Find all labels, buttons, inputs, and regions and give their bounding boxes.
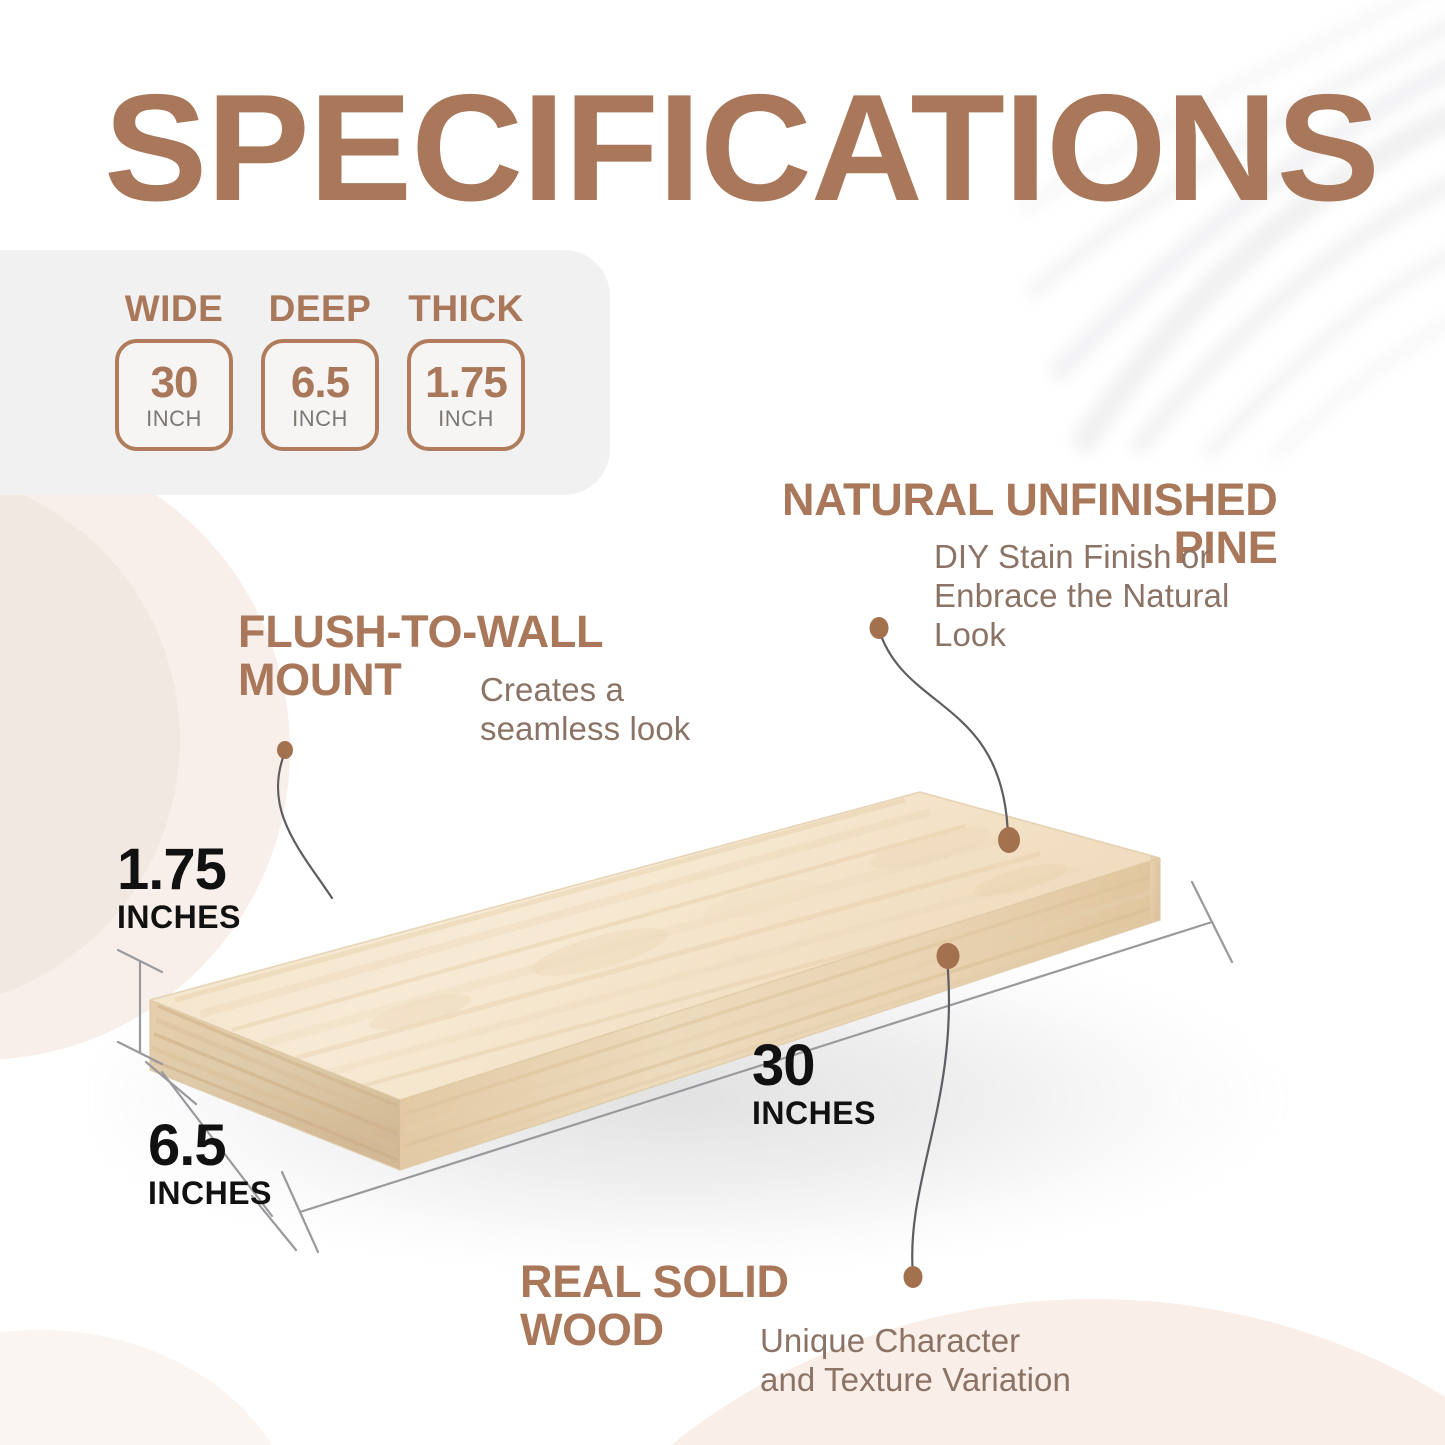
- spec-unit-wide: INCH: [146, 408, 202, 430]
- decorative-blob-left-outer: [0, 440, 290, 1060]
- dimension-label-width: 30 INCHES: [752, 1038, 876, 1128]
- spec-label-deep: DEEP: [269, 288, 372, 330]
- dimension-label-depth: 6.5 INCHES: [148, 1118, 272, 1208]
- dimension-value-depth: 6.5: [148, 1118, 272, 1174]
- leader-line-pine: [879, 630, 1008, 838]
- spec-item-thick: THICK 1.75 INCH: [407, 288, 525, 451]
- spec-unit-deep: INCH: [292, 408, 348, 430]
- dimension-unit-width: INCHES: [752, 1098, 876, 1129]
- callout-dot-pine-text: [870, 617, 889, 639]
- spec-value-deep: 6.5: [291, 361, 349, 405]
- page-title: SPECIFICATIONS: [104, 72, 1379, 224]
- callout-natural-unfinished-pine: NATURAL UNFINISHED PINE DIY Stain Finish…: [782, 476, 1382, 571]
- callout-body-wood: Unique Character and Texture Variation: [760, 1322, 1160, 1400]
- spec-badge-row: WIDE 30 INCH DEEP 6.5 INCH THICK 1.75 IN…: [115, 288, 525, 451]
- callout-dot-wood-product: [937, 943, 960, 969]
- dimension-value-width: 30: [752, 1038, 876, 1094]
- spec-item-wide: WIDE 30 INCH: [115, 288, 233, 451]
- dimension-value-thickness: 1.75: [117, 842, 241, 898]
- callout-dot-pine-product: [998, 827, 1020, 853]
- callout-body-flush: Creates a seamless look: [480, 671, 770, 749]
- spec-label-wide: WIDE: [125, 288, 224, 330]
- callout-flush-to-wall-mount: FLUSH-TO-WALL MOUNT Creates a seamless l…: [238, 608, 758, 703]
- spec-badge-thick: 1.75 INCH: [407, 339, 525, 451]
- callout-dot-flush-text: [277, 741, 293, 759]
- spec-unit-thick: INCH: [438, 408, 494, 430]
- spec-badge-wide: 30 INCH: [115, 339, 233, 451]
- spec-badge-deep: 6.5 INCH: [261, 339, 379, 451]
- dimension-unit-depth: INCHES: [148, 1178, 272, 1209]
- callout-body-pine: DIY Stain Finish or Enbrace the Natural …: [934, 538, 1304, 655]
- spec-value-thick: 1.75: [425, 361, 507, 405]
- leader-line-wood: [912, 958, 949, 1275]
- callout-heading-wood: REAL SOLID WOOD: [520, 1258, 789, 1353]
- callout-real-solid-wood: REAL SOLID WOOD Unique Character and Tex…: [520, 1258, 1160, 1353]
- spec-item-deep: DEEP 6.5 INCH: [261, 288, 379, 451]
- dimension-unit-thickness: INCHES: [117, 902, 241, 933]
- dimension-label-thickness: 1.75 INCHES: [117, 842, 241, 932]
- spec-value-wide: 30: [151, 361, 198, 405]
- spec-label-thick: THICK: [408, 288, 524, 330]
- specifications-infographic: SPECIFICATIONS WIDE 30 INCH DEEP 6.5 INC…: [0, 0, 1445, 1445]
- decorative-blob-bottom-left: [0, 1330, 300, 1445]
- spec-summary-panel: WIDE 30 INCH DEEP 6.5 INCH THICK 1.75 IN…: [0, 250, 610, 495]
- product-floor-shadow: [95, 880, 1305, 1300]
- leader-line-flush: [278, 752, 332, 898]
